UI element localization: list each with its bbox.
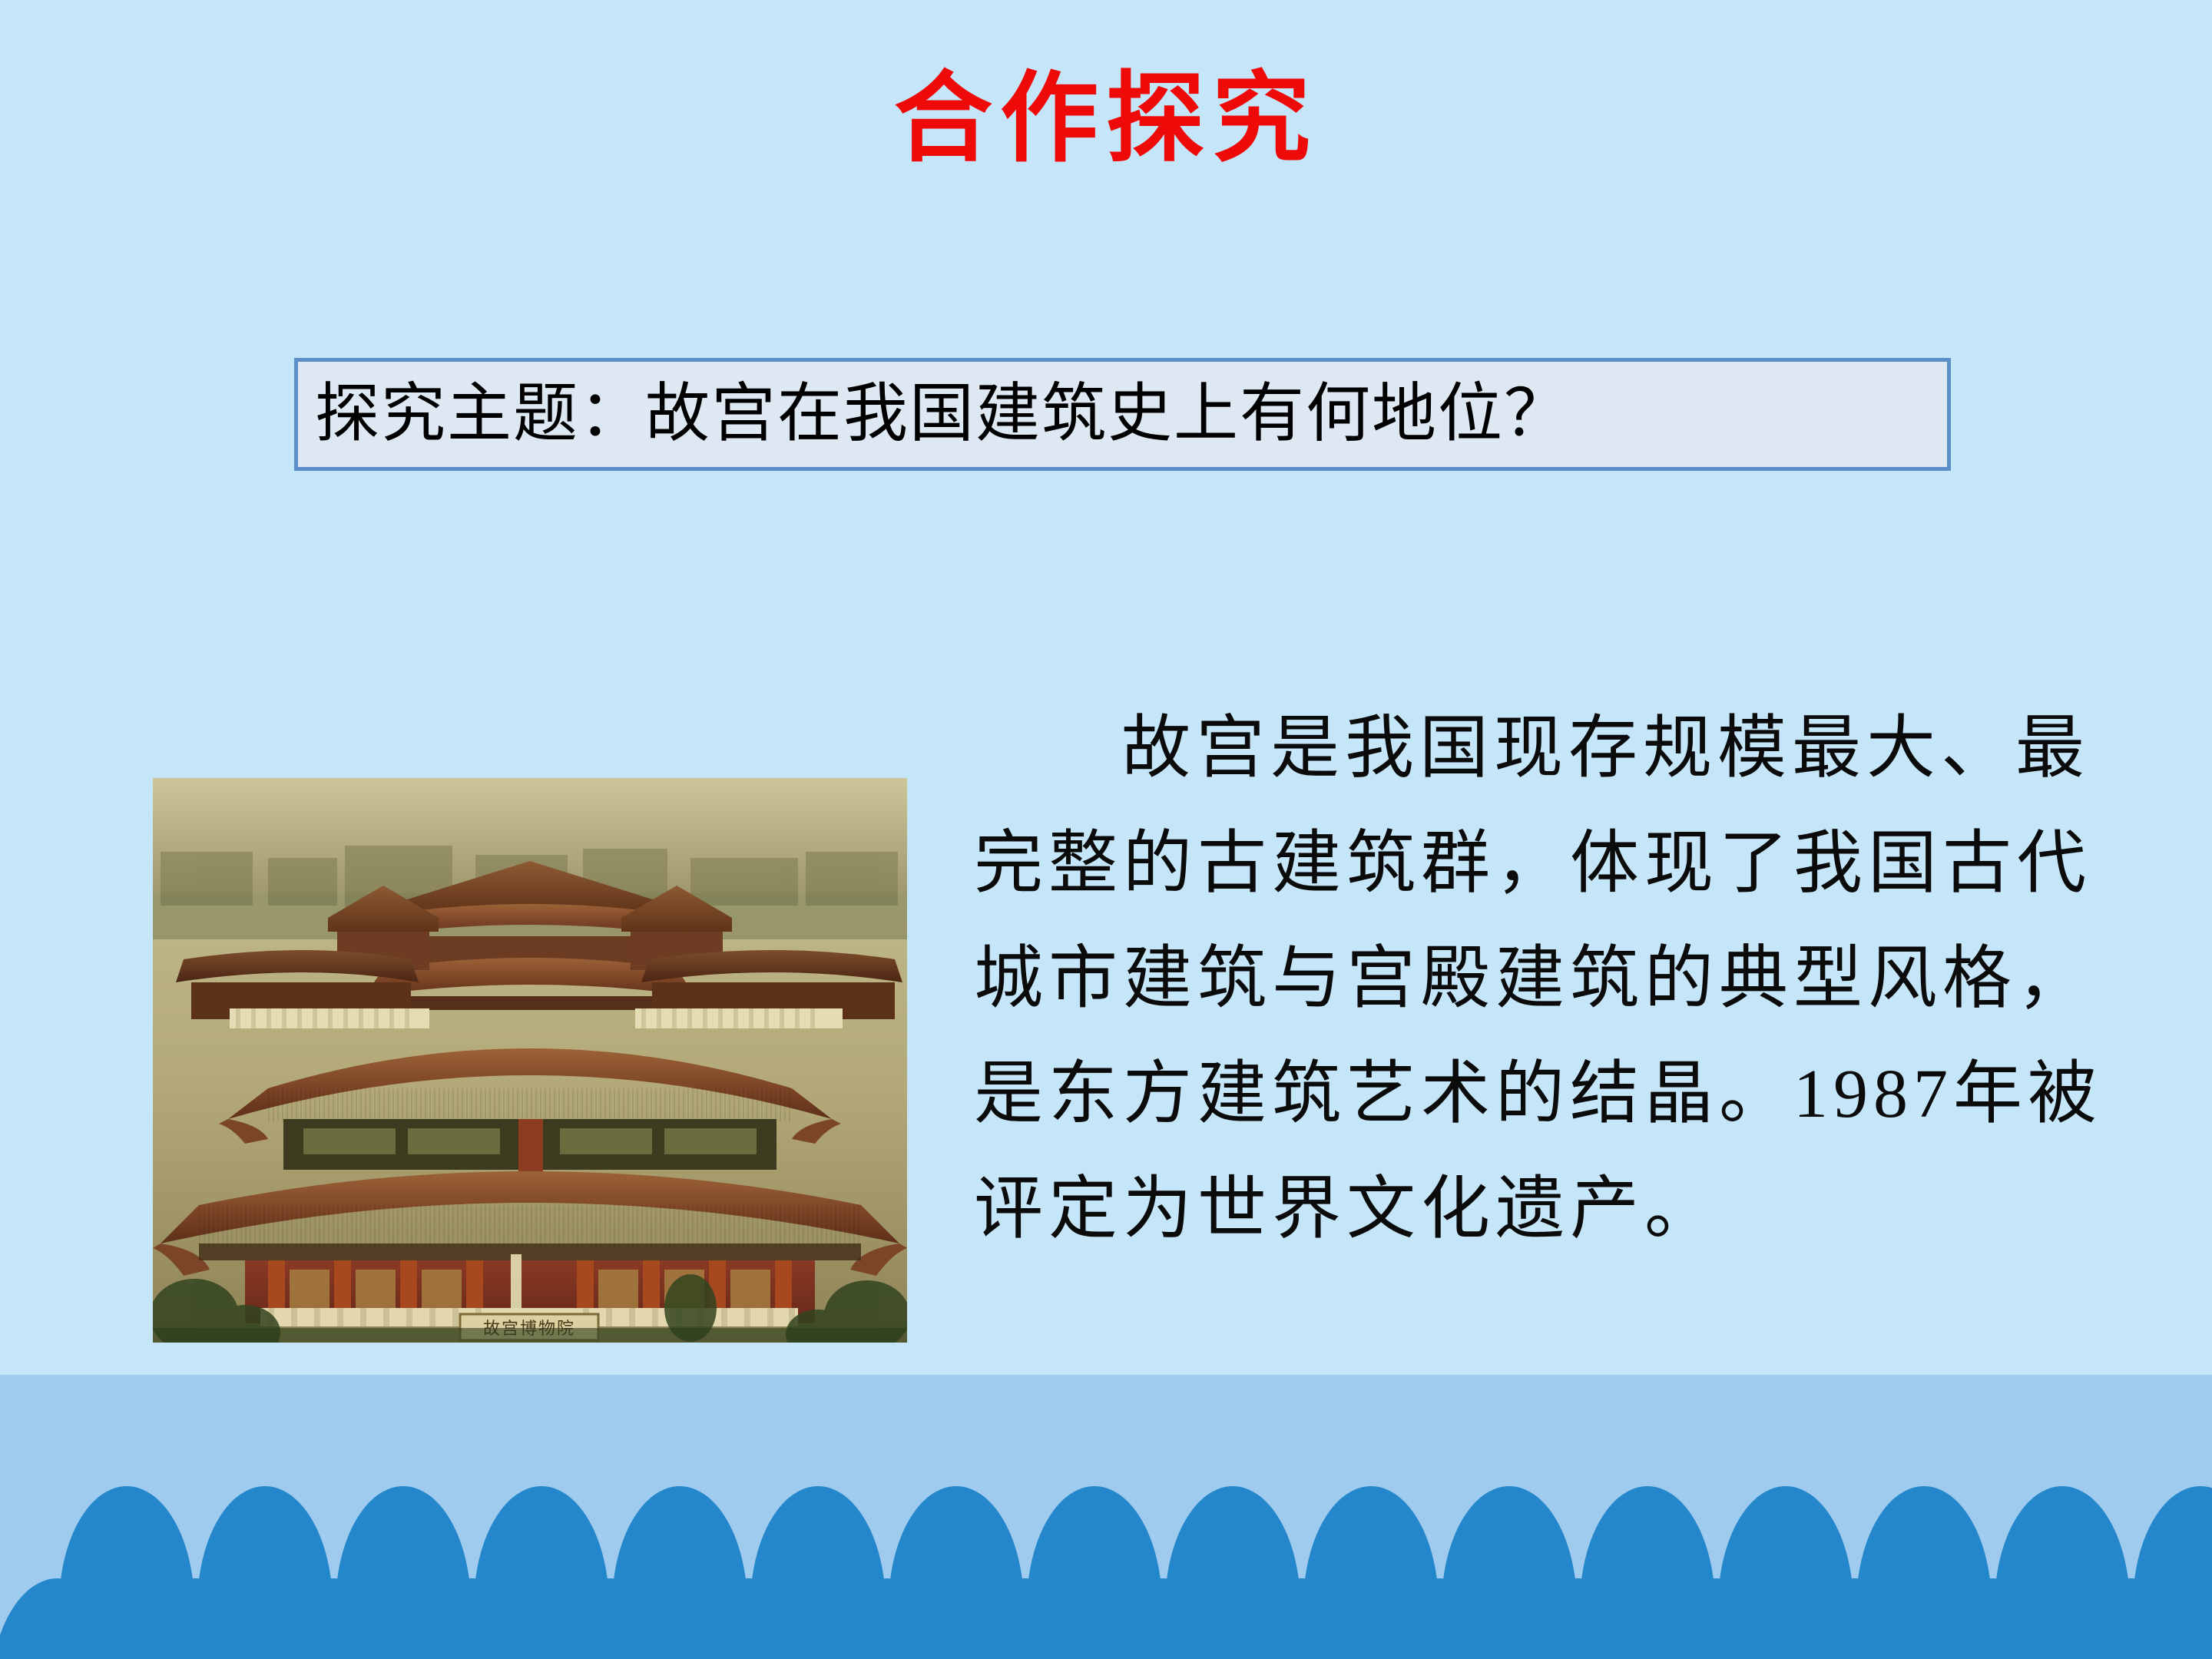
topic-question-text: 探究主题：故宫在我国建筑史上有何地位？: [298, 382, 1570, 447]
body-line-1: 故宫是我国现存规模最大、最: [974, 691, 2126, 806]
topic-question-box: 探究主题：故宫在我国建筑史上有何地位？: [294, 358, 1951, 471]
slide-canvas: 合作探究 探究主题：故宫在我国建筑史上有何地位？: [0, 0, 2212, 1659]
body-line-3: 城市建筑与宫殿建筑的典型风格，: [974, 922, 2126, 1037]
footer-decoration: [0, 1375, 2212, 1659]
forbidden-city-photo: 故宫博物院: [153, 778, 907, 1343]
footer-petal-pattern: [0, 1375, 2212, 1659]
body-line-4: 是东方建筑艺术的结晶。1987年被: [974, 1037, 2126, 1152]
forbidden-city-illustration: 故宫博物院: [153, 778, 907, 1343]
body-line-5: 评定为世界文化遗产。: [974, 1152, 2126, 1267]
body-line-2: 完整的古建筑群，体现了我国古代: [974, 806, 2126, 922]
body-paragraph: 故宫是我国现存规模最大、最 完整的古建筑群，体现了我国古代 城市建筑与宫殿建筑的…: [974, 691, 2126, 1267]
page-title: 合作探究: [0, 68, 2212, 171]
